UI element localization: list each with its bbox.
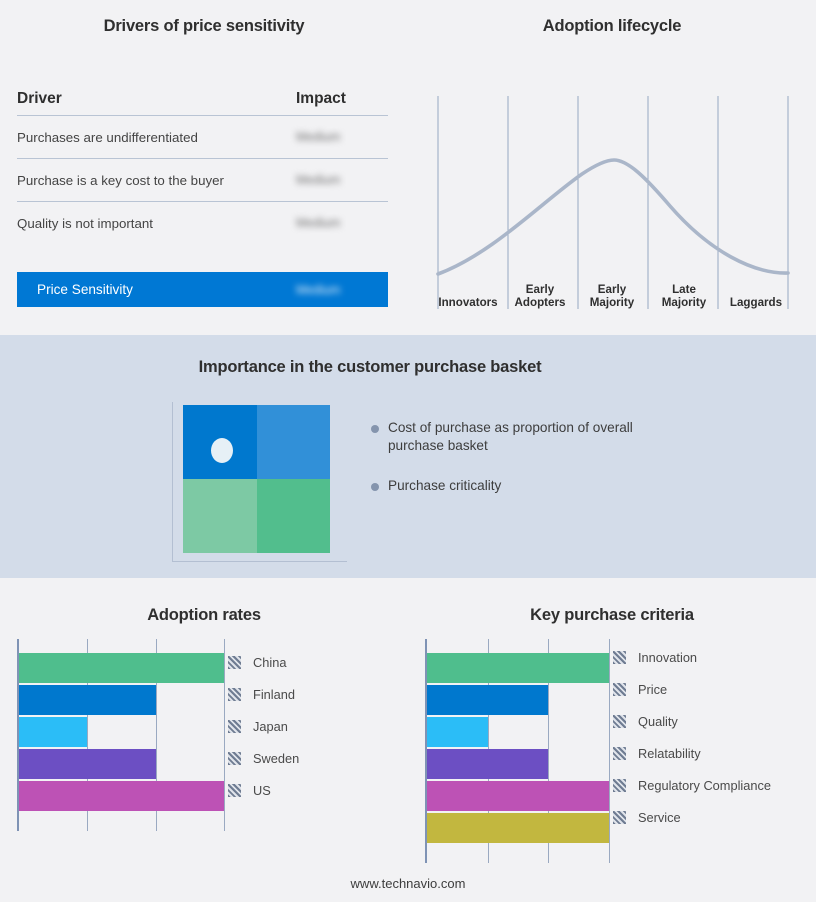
legend-item: China (228, 646, 299, 678)
legend-item: Quality (613, 705, 771, 737)
legend-item-label: US (253, 783, 271, 798)
legend-item-label: Relatability (638, 746, 701, 761)
quadrant-grid (183, 405, 330, 553)
adoption-lifecycle-chart: Innovators EarlyAdopters EarlyMajority L… (432, 82, 792, 310)
legend-item: Price (613, 673, 771, 705)
row-impact-value: Medium (296, 171, 388, 189)
legend-item: Relatability (613, 737, 771, 769)
adoption-rates-bar-chart (17, 639, 226, 831)
key-purchase-criteria-bar-chart (425, 639, 611, 863)
quadrant-bottom-left (183, 479, 257, 553)
hatch-swatch-icon (228, 688, 241, 701)
hatch-swatch-icon (613, 683, 626, 696)
quadrant-top-right (257, 405, 331, 479)
legend-item: Innovation (613, 641, 771, 673)
highlight-driver-label: Price Sensitivity (17, 282, 296, 297)
legend-item-label: Innovation (638, 650, 697, 665)
row-driver-label: Purchase is a key cost to the buyer (17, 173, 296, 188)
lifecycle-label-early-majority: EarlyMajority (576, 274, 648, 310)
key-purchase-criteria-legend: InnovationPriceQualityRelatabilityRegula… (613, 641, 771, 833)
bullet-icon (371, 425, 379, 433)
legend-item: Regulatory Compliance (613, 769, 771, 801)
row-driver-label: Quality is not important (17, 216, 296, 231)
panel-importance-purchase-basket: Importance in the customer purchase bask… (0, 335, 816, 578)
footer-url: www.technavio.com (0, 876, 816, 891)
bar-finland (19, 685, 156, 715)
legend-item-label: Service (638, 810, 681, 825)
quadrant-chart (172, 402, 352, 570)
legend-item: Finland (228, 678, 299, 710)
purchase-basket-legend: Cost of purchase as proportion of overal… (371, 419, 671, 517)
bar-quality (427, 717, 488, 747)
panel-title-adoption-rates: Adoption rates (0, 606, 408, 625)
panel-key-purchase-criteria: Key purchase criteria InnovationPriceQua… (408, 578, 816, 902)
hatch-swatch-icon (613, 811, 626, 824)
legend-item: Cost of purchase as proportion of overal… (371, 419, 671, 455)
lifecycle-label-late-majority: LateMajority (648, 274, 720, 310)
hatch-swatch-icon (228, 656, 241, 669)
bullet-icon (371, 483, 379, 491)
quadrant-bottom-right (257, 479, 331, 553)
panel-title-adoption-lifecycle: Adoption lifecycle (408, 17, 816, 36)
row-impact-value: Medium (296, 214, 388, 232)
row-driver-label: Purchases are undifferentiated (17, 130, 296, 145)
bar-chart-gridline (224, 639, 225, 831)
bar-japan (19, 717, 87, 747)
hatch-swatch-icon (613, 715, 626, 728)
redacted-impact: Medium (296, 130, 340, 144)
lifecycle-label-early-adopters: EarlyAdopters (504, 274, 576, 310)
bar-relatability (427, 749, 548, 779)
panel-title-key-purchase-criteria: Key purchase criteria (408, 606, 816, 625)
legend-item-label: Quality (638, 714, 678, 729)
hatch-swatch-icon (228, 720, 241, 733)
table-header-row: Driver Impact (17, 90, 388, 115)
quadrant-x-axis (172, 561, 347, 562)
redacted-impact: Medium (296, 283, 340, 297)
legend-item: Service (613, 801, 771, 833)
highlight-impact-value: Medium (296, 281, 388, 299)
legend-item-label: Cost of purchase as proportion of overal… (388, 419, 640, 455)
adoption-rates-legend: ChinaFinlandJapanSwedenUS (228, 646, 299, 806)
legend-item-label: Sweden (253, 751, 299, 766)
legend-item-label: Regulatory Compliance (638, 778, 771, 793)
highlighted-row-price-sensitivity: Price Sensitivity Medium (17, 272, 388, 307)
bar-regulatory-compliance (427, 781, 609, 811)
bar-china (19, 653, 224, 683)
hatch-swatch-icon (613, 747, 626, 760)
lifecycle-label-innovators: Innovators (432, 274, 504, 310)
bar-price (427, 685, 548, 715)
redacted-impact: Medium (296, 216, 340, 230)
legend-item-label: Japan (253, 719, 288, 734)
hatch-swatch-icon (613, 779, 626, 792)
quadrant-y-axis (172, 402, 173, 562)
panel-adoption-lifecycle: Adoption lifecycle Innovators EarlyAdopt… (408, 0, 816, 335)
legend-item: Sweden (228, 742, 299, 774)
bar-service (427, 813, 609, 843)
lifecycle-bell-curve (438, 160, 788, 274)
redacted-impact: Medium (296, 173, 340, 187)
legend-item-label: China (253, 655, 286, 670)
row-impact-value: Medium (296, 128, 388, 146)
lifecycle-segment-labels: Innovators EarlyAdopters EarlyMajority L… (432, 274, 792, 310)
lifecycle-label-laggards: Laggards (720, 274, 792, 310)
bar-sweden (19, 749, 156, 779)
bar-us (19, 781, 224, 811)
bar-innovation (427, 653, 609, 683)
drivers-table: Driver Impact Purchases are undifferenti… (17, 90, 388, 244)
hatch-swatch-icon (228, 784, 241, 797)
legend-item-label: Purchase criticality (388, 477, 501, 495)
quadrant-position-dot (211, 438, 233, 463)
table-row: Quality is not important Medium (17, 201, 388, 244)
legend-item: US (228, 774, 299, 806)
bar-chart-gridline (609, 639, 610, 863)
column-header-impact: Impact (296, 90, 388, 108)
legend-item-label: Finland (253, 687, 295, 702)
hatch-swatch-icon (613, 651, 626, 664)
panel-title-purchase-basket: Importance in the customer purchase bask… (0, 358, 740, 377)
legend-item: Japan (228, 710, 299, 742)
table-row: Purchases are undifferentiated Medium (17, 115, 388, 158)
legend-item-label: Price (638, 682, 667, 697)
panel-drivers-of-price-sensitivity: Drivers of price sensitivity Driver Impa… (0, 0, 408, 335)
table-row: Purchase is a key cost to the buyer Medi… (17, 158, 388, 201)
panel-title-drivers: Drivers of price sensitivity (0, 17, 408, 36)
column-header-driver: Driver (17, 90, 296, 108)
hatch-swatch-icon (228, 752, 241, 765)
legend-item: Purchase criticality (371, 477, 671, 495)
panel-adoption-rates: Adoption rates ChinaFinlandJapanSwedenUS (0, 578, 408, 902)
